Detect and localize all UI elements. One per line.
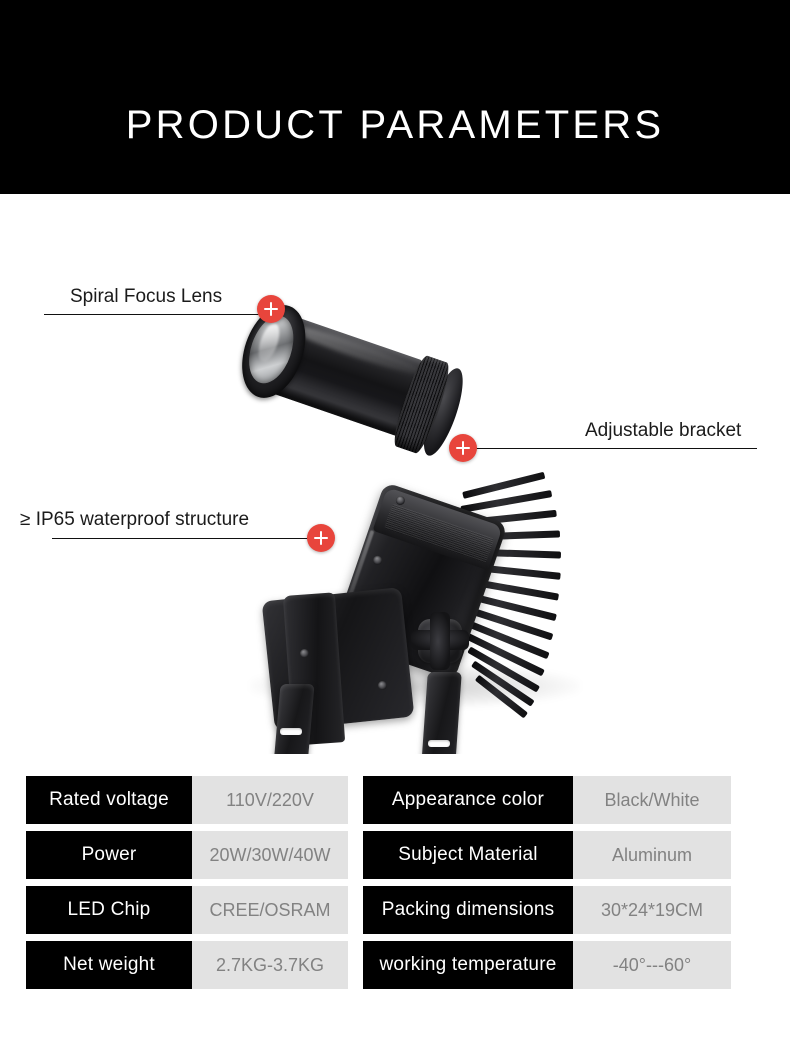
spec-label: Subject Material [363, 831, 573, 879]
spec-pair-left: Rated voltage 110V/220V [26, 776, 348, 824]
adjustment-knob [418, 619, 462, 663]
spec-label: Packing dimensions [363, 886, 573, 934]
spec-pair-right: Subject Material Aluminum [363, 831, 731, 879]
callout-label-ip65-waterproof-structure: ≥ IP65 waterproof structure [20, 509, 249, 531]
spec-value: 110V/220V [192, 776, 348, 824]
callout-label-adjustable-bracket: Adjustable bracket [585, 420, 741, 442]
spec-label: Appearance color [363, 776, 573, 824]
table-row: Rated voltage 110V/220V Appearance color… [26, 776, 730, 824]
spec-pair-right: Appearance color Black/White [363, 776, 731, 824]
spec-value: Black/White [573, 776, 731, 824]
spec-label: working temperature [363, 941, 573, 989]
spec-label: Power [26, 831, 192, 879]
spec-value: 2.7KG-3.7KG [192, 941, 348, 989]
specification-table: Rated voltage 110V/220V Appearance color… [26, 776, 730, 996]
table-row: LED Chip CREE/OSRAM Packing dimensions 3… [26, 886, 730, 934]
spec-value: -40°---60° [573, 941, 731, 989]
product-photo: Spiral Focus Lens Adjustable bracket ≥ I… [0, 194, 790, 754]
spec-value: 20W/30W/40W [192, 831, 348, 879]
spec-label: LED Chip [26, 886, 192, 934]
bracket-arm-left [267, 684, 314, 754]
spec-label: Rated voltage [26, 776, 192, 824]
spec-value: Aluminum [573, 831, 731, 879]
header-band: PRODUCT PARAMETERS [0, 0, 790, 194]
spec-pair-right: Packing dimensions 30*24*19CM [363, 886, 731, 934]
plus-marker-ip65-waterproof-structure[interactable] [307, 524, 335, 552]
bracket-slot [280, 728, 302, 735]
callout-label-spiral-focus-lens: Spiral Focus Lens [70, 286, 222, 308]
spec-value: CREE/OSRAM [192, 886, 348, 934]
page-title: PRODUCT PARAMETERS [0, 103, 790, 147]
callout-rule-adjustable-bracket [474, 448, 757, 449]
product-parameters-page: PRODUCT PARAMETERS [0, 0, 790, 1049]
table-row: Net weight 2.7KG-3.7KG working temperatu… [26, 941, 730, 989]
bracket-slot [428, 740, 450, 747]
plus-marker-spiral-focus-lens[interactable] [257, 295, 285, 323]
spec-pair-right: working temperature -40°---60° [363, 941, 731, 989]
callout-rule-spiral-focus-lens [44, 314, 278, 315]
projector-illustration [0, 194, 790, 754]
spec-pair-left: Net weight 2.7KG-3.7KG [26, 941, 348, 989]
yoke-screw [300, 649, 309, 658]
plus-marker-adjustable-bracket[interactable] [449, 434, 477, 462]
spec-pair-left: LED Chip CREE/OSRAM [26, 886, 348, 934]
spec-pair-left: Power 20W/30W/40W [26, 831, 348, 879]
spec-value: 30*24*19CM [573, 886, 731, 934]
mounting-bracket [252, 684, 552, 754]
spec-label: Net weight [26, 941, 192, 989]
table-row: Power 20W/30W/40W Subject Material Alumi… [26, 831, 730, 879]
callout-rule-ip65-waterproof-structure [52, 538, 320, 539]
